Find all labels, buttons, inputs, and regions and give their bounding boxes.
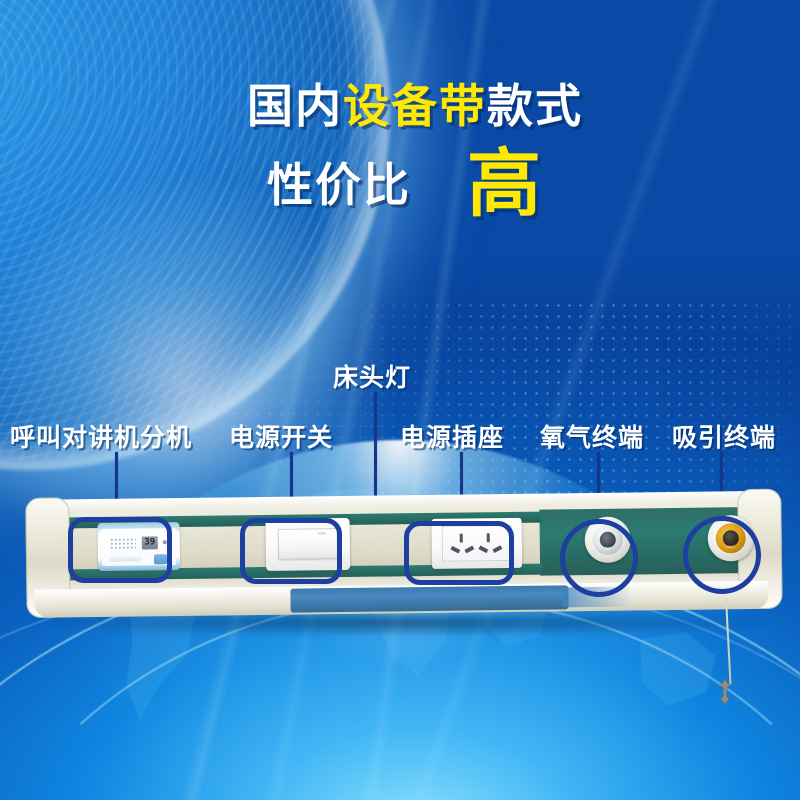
highlight-box-power-socket (404, 521, 514, 585)
callout-layer: 呼叫对讲机分机 电源开关 床头灯 电源插座 氧气终端 吸引终端 (0, 0, 800, 800)
callout-label-bed-lamp: 床头灯 (333, 358, 411, 394)
callout-label-power-socket: 电源插座 (400, 418, 504, 454)
highlight-box-light-switch (240, 518, 342, 584)
callout-label-intercom: 呼叫对讲机分机 (10, 418, 192, 454)
product-banner: 国内设备带款式 性价比高 呼叫对讲机分机 电源开关 床头灯 电源插座 氧气终端 … (0, 0, 800, 800)
callout-label-suction-terminal: 吸引终端 (672, 418, 776, 454)
suction-cord-tip-icon (716, 678, 734, 704)
highlight-circle-suction-terminal (683, 516, 761, 594)
highlight-circle-oxygen-terminal (560, 519, 638, 597)
panel-rail-reflection (290, 585, 568, 612)
callout-label-oxygen-terminal: 氧气终端 (540, 418, 644, 454)
highlight-box-intercom (68, 517, 172, 583)
callout-label-power-switch: 电源开关 (229, 418, 333, 454)
